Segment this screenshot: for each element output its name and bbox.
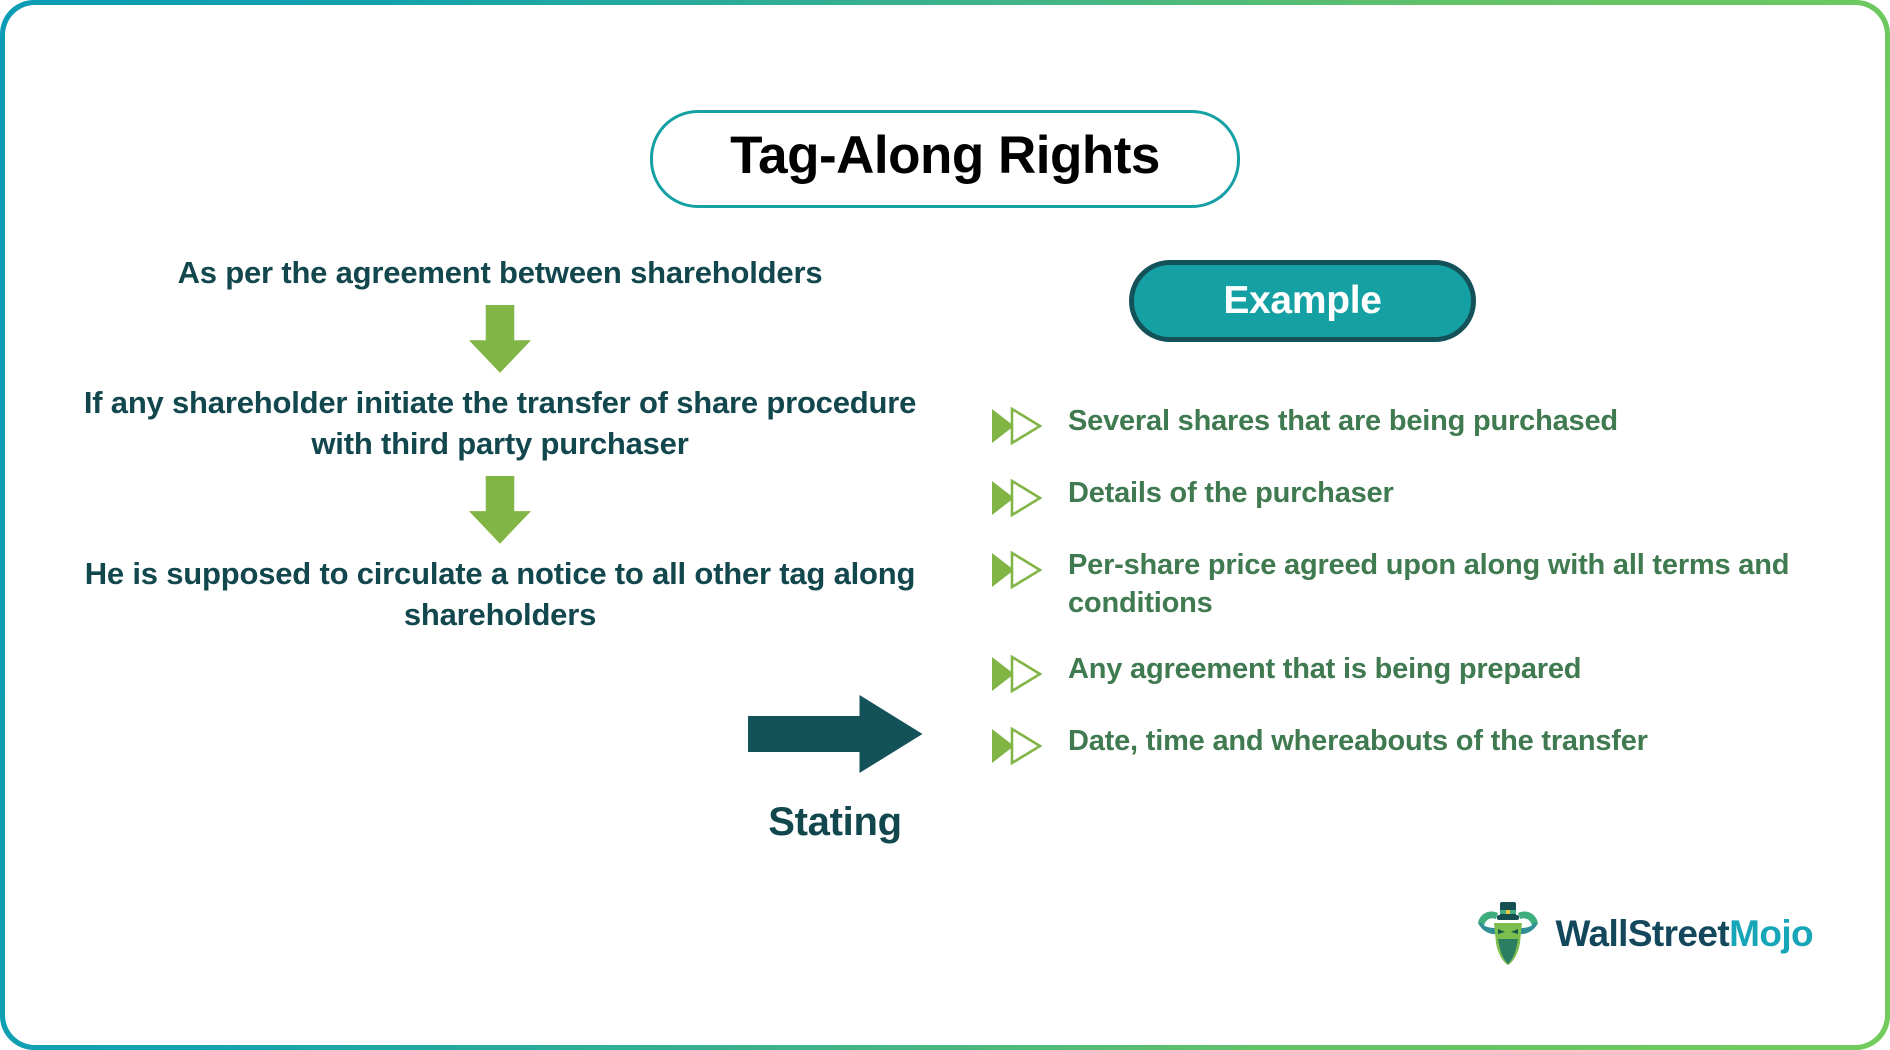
arrow-down-icon [469, 305, 531, 373]
infographic-frame: Tag-Along Rights As per the agreement be… [0, 0, 1890, 1050]
example-heading: Example [1223, 279, 1381, 323]
process-flow-column: As per the agreement between shareholder… [65, 253, 935, 636]
list-item: Date, time and whereabouts of the transf… [990, 723, 1790, 766]
bull-head-logo-icon [1474, 901, 1542, 967]
flow-step-3: He is supposed to circulate a notice to … [65, 554, 935, 636]
example-heading-pill: Example [1129, 260, 1476, 342]
list-item-label: Any agreement that is being prepared [1068, 651, 1581, 689]
list-item: Several shares that are being purchased [990, 403, 1790, 446]
flow-arrow-2-wrap [65, 465, 935, 554]
double-chevron-right-icon [990, 406, 1046, 446]
arrow-down-icon [469, 476, 531, 544]
brand-logo: WallStreetMojo [1474, 901, 1813, 967]
stating-label: Stating [725, 800, 945, 845]
double-chevron-right-icon [990, 654, 1046, 694]
list-item-label: Date, time and whereabouts of the transf… [1068, 723, 1648, 761]
flow-step-2: If any shareholder initiate the transfer… [65, 383, 935, 465]
brand-wordmark: WallStreetMojo [1556, 913, 1813, 955]
list-item-label: Per-share price agreed upon along with a… [1068, 547, 1790, 622]
double-chevron-right-icon [990, 478, 1046, 518]
double-chevron-right-icon [990, 550, 1046, 590]
page-title-pill: Tag-Along Rights [650, 110, 1240, 208]
list-item-label: Several shares that are being purchased [1068, 403, 1618, 441]
example-list: Several shares that are being purchased … [990, 403, 1790, 795]
stating-block: Stating [725, 695, 945, 845]
infographic-canvas: Tag-Along Rights As per the agreement be… [5, 5, 1885, 1045]
list-item: Details of the purchaser [990, 475, 1790, 518]
flow-step-1: As per the agreement between shareholder… [65, 253, 935, 294]
flow-arrow-1-wrap [65, 294, 935, 383]
brand-word-primary: WallStreet [1556, 913, 1730, 954]
list-item: Any agreement that is being prepared [990, 651, 1790, 694]
brand-word-accent: Mojo [1729, 913, 1813, 954]
page-title: Tag-Along Rights [707, 127, 1183, 185]
double-chevron-right-icon [990, 726, 1046, 766]
list-item-label: Details of the purchaser [1068, 475, 1394, 513]
list-item: Per-share price agreed upon along with a… [990, 547, 1790, 622]
arrow-right-icon [748, 695, 923, 773]
